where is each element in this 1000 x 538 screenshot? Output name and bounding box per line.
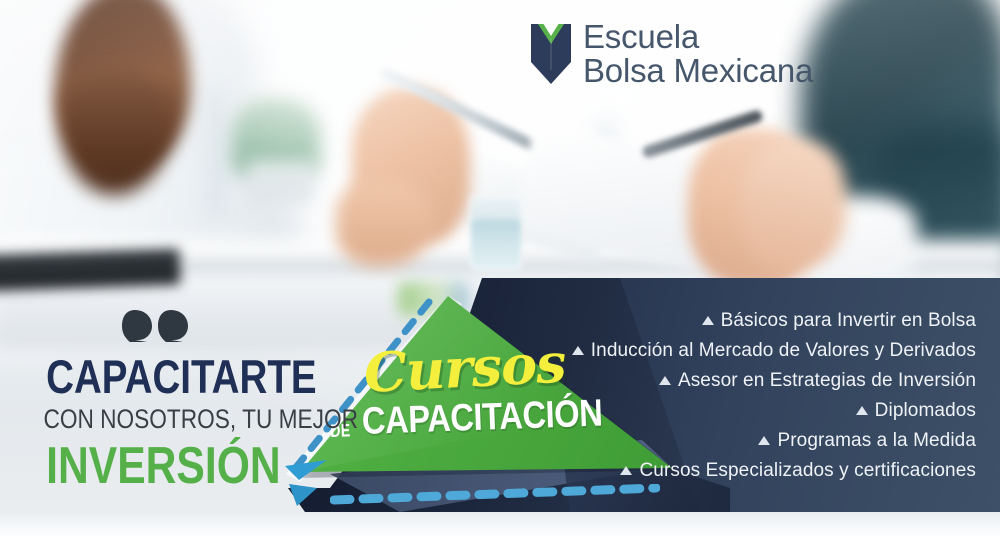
list-item[interactable]: Diplomados [856,396,976,426]
course-label: Cursos Especializados y certificaciones [639,460,976,482]
course-label: Programas a la Medida [777,430,976,452]
brand-logo-text: Escuela Bolsa Mexicana [583,20,813,89]
shield-book-logo-icon [531,24,571,84]
triangle-up-bullet-icon [758,436,770,445]
triangle-up-bullet-icon [856,406,868,415]
list-item[interactable]: Básicos para Invertir en Bolsa [702,306,976,336]
list-item[interactable]: Programas a la Medida [758,426,976,456]
brand-line-1: Escuela [583,20,813,54]
course-label: Inducción al Mercado de Valores y Deriva… [591,340,976,362]
triangle-up-bullet-icon [659,376,671,385]
quotation-mark-icon [121,308,191,344]
brand-logo: Escuela Bolsa Mexicana [531,20,813,89]
triangle-up-bullet-icon [620,466,632,475]
list-item[interactable]: Asesor en Estrategias de Inversión [659,366,976,396]
course-list: Básicos para Invertir en Bolsa Inducción… [356,306,976,486]
list-item[interactable]: Cursos Especializados y certificaciones [620,456,976,486]
course-label: Asesor en Estrategias de Inversión [678,370,976,392]
promo-banner: Escuela Bolsa Mexicana Cursos DE CAPACIT… [0,0,1000,538]
list-item[interactable]: Inducción al Mercado de Valores y Deriva… [572,336,976,366]
tagline-line-3: INVERSIÓN [46,440,266,492]
triangle-up-bullet-icon [702,316,714,325]
tagline-block: CAPACITARTE CON NOSOTROS, TU MEJOR INVER… [22,308,290,492]
dashed-line-bottom-icon [330,484,660,506]
brand-line-2: Bolsa Mexicana [583,54,813,88]
bottom-strip [0,512,1000,538]
tagline-line-1: CAPACITARTE [46,353,266,400]
triangle-up-bullet-icon [572,346,584,355]
course-label: Diplomados [875,400,976,422]
tagline-line-2: CON NOSOTROS, TU MEJOR [43,405,268,434]
course-label: Básicos para Invertir en Bolsa [721,310,976,332]
